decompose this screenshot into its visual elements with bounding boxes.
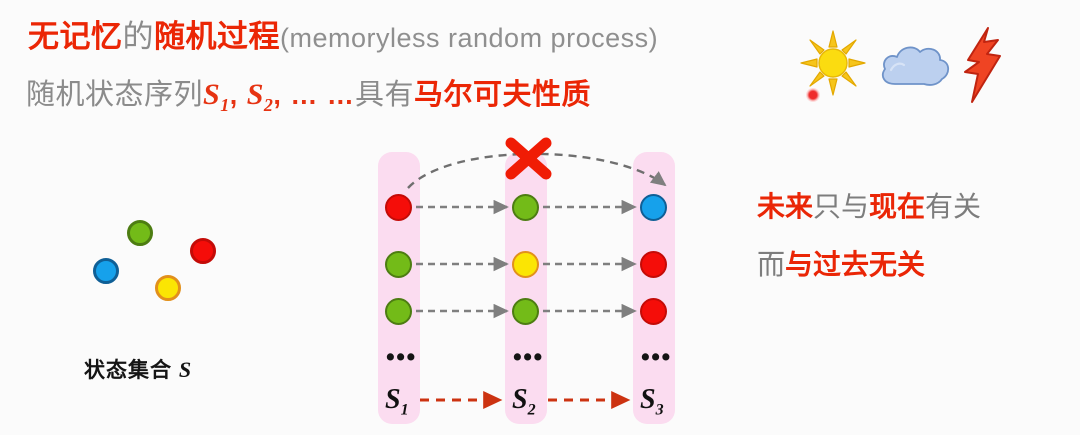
column-label-s1: S1 xyxy=(385,384,409,420)
node-s1-1[interactable] xyxy=(385,194,412,221)
conclusion-unrelated-past: 与过去无关 xyxy=(785,249,925,280)
state-set-label-text: 状态集合 xyxy=(84,359,172,382)
slide-canvas: 无记忆的随机过程(memoryless random process) 随机状态… xyxy=(0,0,1080,435)
sun-reflection-dot xyxy=(806,88,820,102)
state-dot-red xyxy=(190,238,216,264)
symbol-s1: S1 xyxy=(203,78,230,111)
node-s3-3[interactable] xyxy=(640,298,667,325)
column-ellipsis-s2: ••• xyxy=(513,352,544,362)
conclusion-future: 未来 xyxy=(757,191,813,222)
conclusion-only-with: 只与 xyxy=(813,191,869,222)
subtitle-part-sequence: 随机状态序列 xyxy=(26,79,203,111)
column-ellipsis-s1: ••• xyxy=(386,352,417,362)
column-label-s3: S3 xyxy=(640,384,664,420)
seq-separator-2: , xyxy=(273,80,290,110)
node-s1-3[interactable] xyxy=(385,298,412,325)
cloud-icon xyxy=(878,40,952,88)
state-dot-green xyxy=(127,220,153,246)
title-part-de: 的 xyxy=(123,19,155,54)
node-s3-2[interactable] xyxy=(640,251,667,278)
sun-icon xyxy=(800,30,866,96)
conclusion-line-1: 未来只与现在有关 xyxy=(757,185,981,225)
subtitle-part-has: 具有 xyxy=(355,79,414,111)
subtitle-part-markov: 马尔可夫性质 xyxy=(414,79,591,111)
title-part-memoryless: 无记忆 xyxy=(28,19,123,54)
title-part-english: (memoryless random process) xyxy=(280,23,658,53)
symbol-s2: S2 xyxy=(247,78,274,111)
state-set-label: 状态集合 S xyxy=(84,354,192,384)
node-s2-1[interactable] xyxy=(512,194,539,221)
title-line-2: 随机状态序列S1, S2, … …具有马尔可夫性质 xyxy=(26,76,591,124)
title-line-1: 无记忆的随机过程(memoryless random process) xyxy=(28,18,658,57)
node-s2-2[interactable] xyxy=(512,251,539,278)
seq-ellipsis: … … xyxy=(290,80,355,110)
lightning-bolt-icon xyxy=(962,26,1004,104)
state-dot-yellow xyxy=(155,275,181,301)
title-part-random-process: 随机过程 xyxy=(154,19,280,54)
column-ellipsis-s3: ••• xyxy=(641,352,672,362)
conclusion-related: 有关 xyxy=(925,191,981,222)
seq-separator-1: , xyxy=(230,80,247,110)
node-s3-1[interactable] xyxy=(640,194,667,221)
node-s2-3[interactable] xyxy=(512,298,539,325)
node-s1-2[interactable] xyxy=(385,251,412,278)
conclusion-line-2: 而与过去无关 xyxy=(757,243,925,283)
state-dot-blue xyxy=(93,258,119,284)
conclusion-and: 而 xyxy=(757,249,785,280)
state-set-label-symbol: S xyxy=(179,357,192,382)
column-label-s2: S2 xyxy=(512,384,536,420)
conclusion-present: 现在 xyxy=(869,191,925,222)
